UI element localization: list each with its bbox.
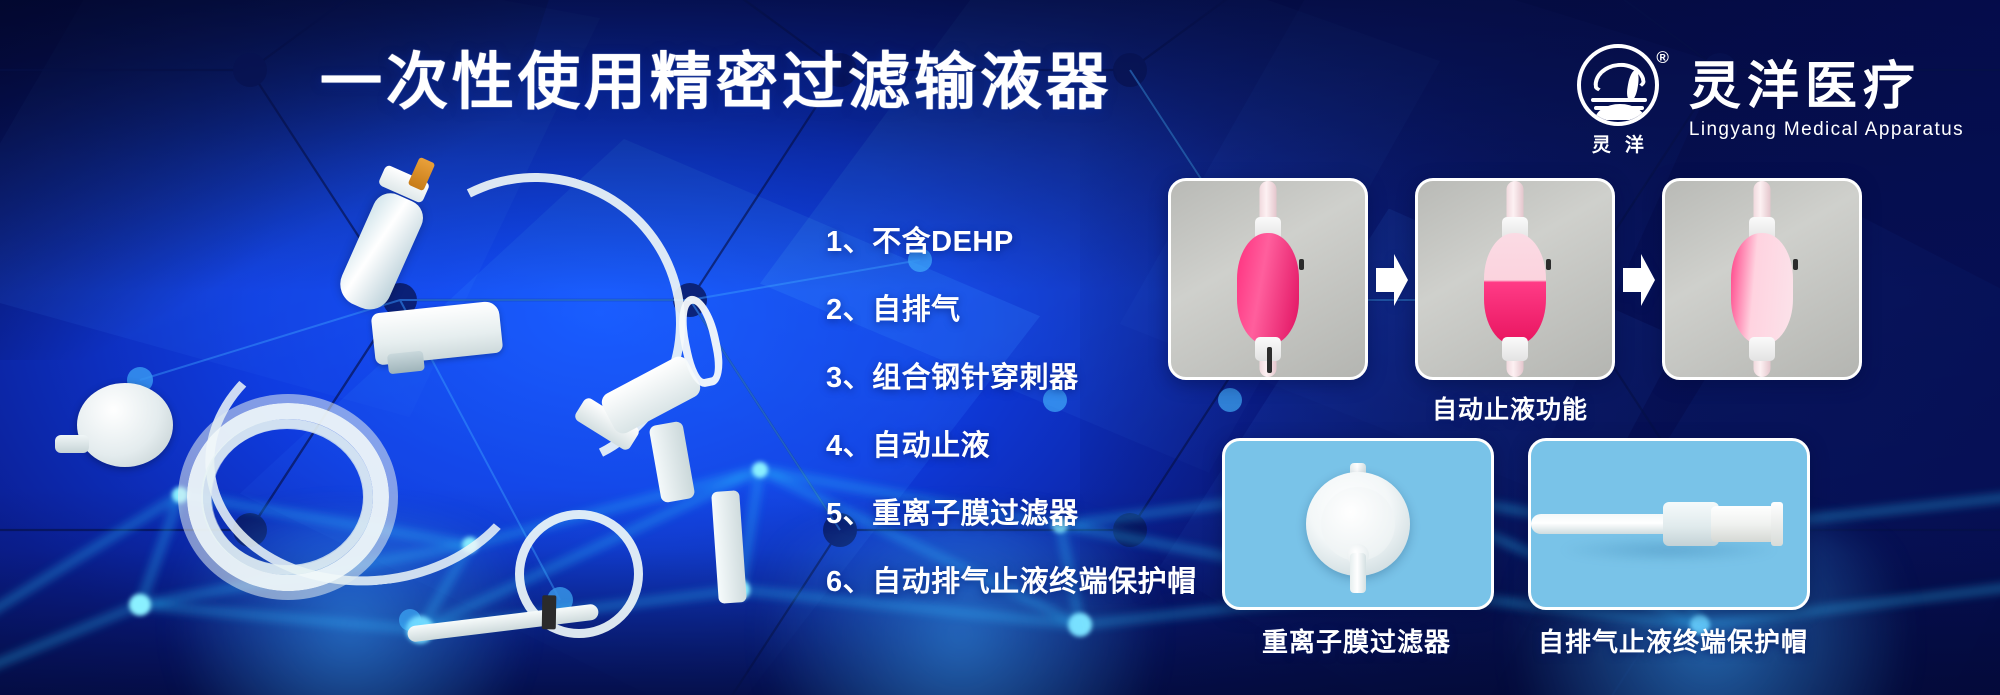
detail-photo-filter <box>1222 438 1494 610</box>
tube-coil-large-inner <box>201 419 373 575</box>
sequence-arrow-icon <box>1374 252 1410 308</box>
logo-mark-left-char: 灵 <box>1592 135 1625 156</box>
feature-item-4: 4、自动止液 <box>826 422 1197 464</box>
protective-cap-part <box>711 490 747 604</box>
detail-photo-end-cap <box>1528 438 1810 610</box>
sequence-photo-3 <box>1662 178 1862 380</box>
registered-trademark-icon: ® <box>1656 48 1669 68</box>
logo-mark-right-char: 洋 <box>1625 135 1658 156</box>
detail-caption-end-cap: 自排气止液终端保护帽 <box>1538 622 1808 659</box>
product-photo-infusion-set <box>55 175 775 665</box>
detail-caption-filter: 重离子膜过滤器 <box>1262 622 1451 659</box>
brand-name-cn: 灵洋医疗 <box>1689 60 1964 115</box>
feature-item-2: 2、自排气 <box>826 286 1197 328</box>
feature-item-5: 5、重离子膜过滤器 <box>826 490 1197 532</box>
logo-emblem-subtext: 灵洋 <box>1569 130 1667 157</box>
filter-disk-part <box>77 383 173 467</box>
feature-item-1: 1、不含DEHP <box>826 218 1197 260</box>
sequence-arrow-icon <box>1621 252 1657 308</box>
feature-list: 1、不含DEHP 2、自排气 3、组合钢针穿刺器 4、自动止液 5、重离子膜过滤… <box>826 218 1197 600</box>
needle-holder-part <box>648 421 695 504</box>
logo-circle-icon <box>1577 44 1659 126</box>
product-banner: 一次性使用精密过滤输液器 ® 灵洋 灵洋医疗 Lingyang Medical … <box>0 0 2000 695</box>
logo-emblem: ® 灵洋 <box>1569 44 1667 157</box>
brand-name-en: Lingyang Medical Apparatus <box>1689 119 1964 141</box>
page-title: 一次性使用精密过滤输液器 <box>320 52 1112 114</box>
sequence-photo-2 <box>1415 178 1615 380</box>
brand-logo: ® 灵洋 灵洋医疗 Lingyang Medical Apparatus <box>1569 44 1964 157</box>
feature-item-6: 6、自动排气止液终端保护帽 <box>826 558 1197 600</box>
brand-name-block: 灵洋医疗 Lingyang Medical Apparatus <box>1689 60 1964 141</box>
sequence-photo-1 <box>1168 178 1368 380</box>
feature-item-3: 3、组合钢针穿刺器 <box>826 354 1197 396</box>
sequence-caption: 自动止液功能 <box>1432 390 1588 426</box>
